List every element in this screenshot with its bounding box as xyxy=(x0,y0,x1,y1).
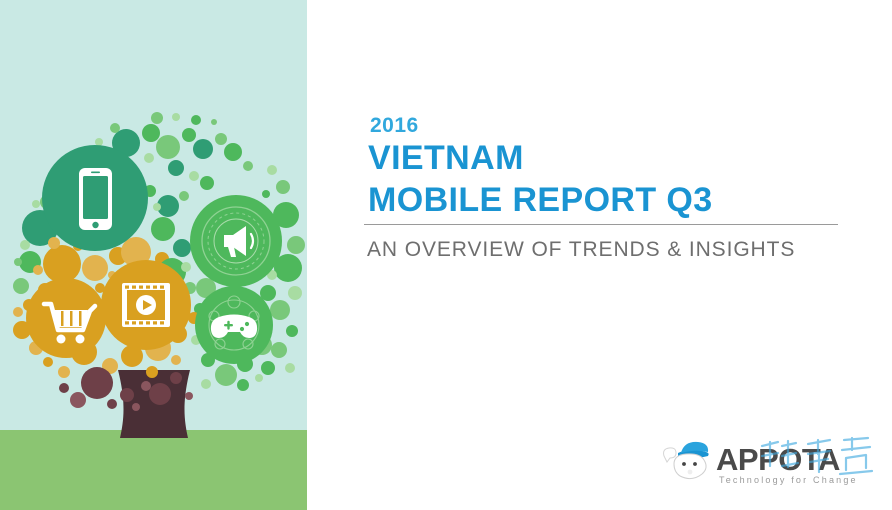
page-title-line-2: MOBILE REPORT Q3 xyxy=(368,181,713,220)
illustration-panel xyxy=(0,0,307,510)
video-film-icon xyxy=(101,260,191,350)
page-title-line-1: VIETNAM xyxy=(368,139,524,178)
appota-tagline: Technology for Change xyxy=(719,475,858,485)
smartphone-icon xyxy=(42,145,148,251)
subtitle: AN OVERVIEW OF TRENDS & INSIGHTS xyxy=(367,238,795,262)
title-divider xyxy=(364,224,838,225)
appota-mascot-icon xyxy=(662,434,724,486)
appota-logo[interactable]: APPOTA Technology for Change xyxy=(662,430,882,492)
year-label: 2016 xyxy=(370,114,419,138)
megaphone-icon xyxy=(190,195,282,287)
appota-wordmark: APPOTA xyxy=(716,442,840,478)
shopping-cart-icon xyxy=(26,278,106,358)
mobile-ecosystem-tree xyxy=(0,0,307,510)
content-area: 2016 VIETNAM MOBILE REPORT Q3 AN OVERVIE… xyxy=(307,0,892,510)
game-controller-icon xyxy=(195,286,273,364)
slide-canvas: 2016 VIETNAM MOBILE REPORT Q3 AN OVERVIE… xyxy=(0,0,892,510)
